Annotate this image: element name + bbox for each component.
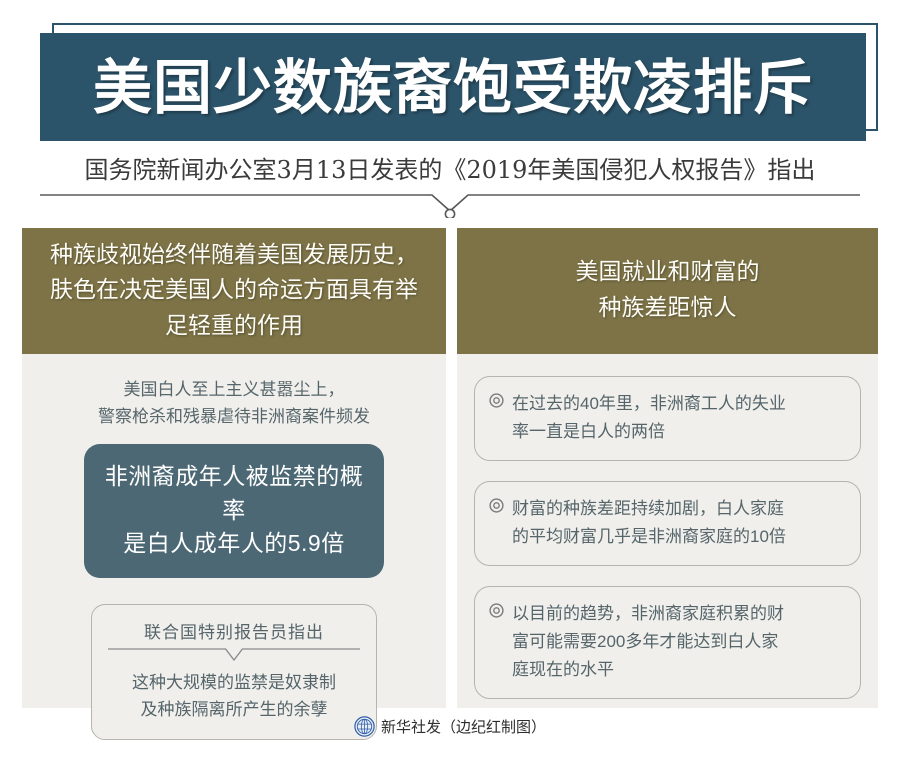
title-banner: 美国少数族裔饱受欺凌排斥 [40, 33, 866, 141]
xinhua-globe-logo-icon [354, 716, 375, 737]
double-circle-bullet-icon [489, 603, 504, 618]
list-item-text: 以目前的趋势，非洲裔家庭积累的财 富可能需要200多年才能达到白人家 庭现在的水… [512, 600, 846, 684]
column-left-header: 种族歧视始终伴随着美国发展历史， 肤色在决定美国人的命运方面具有举 足轻重的作用 [22, 228, 446, 354]
down-arrow-notch-icon [40, 194, 860, 218]
subtitle-block: 国务院新闻办公室3月13日发表的《2019年美国侵犯人权报告》指出 [0, 146, 900, 224]
v-notch-divider-icon [108, 648, 360, 663]
column-right: 美国就业和财富的 种族差距惊人 在过去的40年里，非洲裔工人的失业 率一直是白人… [457, 228, 878, 708]
column-right-heading-text: 美国就业和财富的 种族差距惊人 [562, 255, 774, 326]
column-left-lead-text: 美国白人至上主义甚嚣尘上， 警察枪杀和残暴虐待非洲裔案件频发 [22, 376, 446, 430]
title-block: 美国少数族裔饱受欺凌排斥 [0, 0, 900, 150]
double-circle-bullet-icon [489, 393, 504, 408]
quote-divider [108, 648, 360, 663]
bullet-list: 在过去的40年里，非洲裔工人的失业 率一直是白人的两倍 财富的种族差距持续加剧，… [457, 354, 878, 699]
double-circle-bullet-icon [489, 498, 504, 513]
column-right-header: 美国就业和财富的 种族差距惊人 [457, 228, 878, 354]
list-item: 财富的种族差距持续加剧，白人家庭 的平均财富几乎是非洲裔家庭的10倍 [474, 481, 861, 566]
column-left-heading-text: 种族歧视始终伴随着美国发展历史， 肤色在决定美国人的命运方面具有举 足轻重的作用 [36, 238, 432, 345]
footer-credit: 新华社发（边纪红制图） [381, 716, 546, 737]
stat-highlight-card: 非洲裔成年人被监禁的概率 是白人成年人的5.9倍 [84, 444, 384, 578]
page-title: 美国少数族裔饱受欺凌排斥 [93, 58, 813, 117]
column-left: 种族歧视始终伴随着美国发展历史， 肤色在决定美国人的命运方面具有举 足轻重的作用… [22, 228, 446, 708]
list-item-text: 财富的种族差距持续加剧，白人家庭 的平均财富几乎是非洲裔家庭的10倍 [512, 495, 846, 551]
list-item: 在过去的40年里，非洲裔工人的失业 率一直是白人的两倍 [474, 376, 861, 461]
subtitle-connector [40, 194, 860, 218]
list-item-text: 在过去的40年里，非洲裔工人的失业 率一直是白人的两倍 [512, 390, 846, 446]
subtitle-text: 国务院新闻办公室3月13日发表的《2019年美国侵犯人权报告》指出 [0, 150, 900, 185]
list-item: 以目前的趋势，非洲裔家庭积累的财 富可能需要200多年才能达到白人家 庭现在的水… [474, 586, 861, 699]
footer: 新华社发（边纪红制图） [0, 716, 900, 758]
un-quote-title: 联合国特别报告员指出 [108, 618, 360, 643]
content-columns: 种族歧视始终伴随着美国发展历史， 肤色在决定美国人的命运方面具有举 足轻重的作用… [0, 228, 900, 710]
stat-highlight-text: 非洲裔成年人被监禁的概率 是白人成年人的5.9倍 [94, 460, 374, 560]
